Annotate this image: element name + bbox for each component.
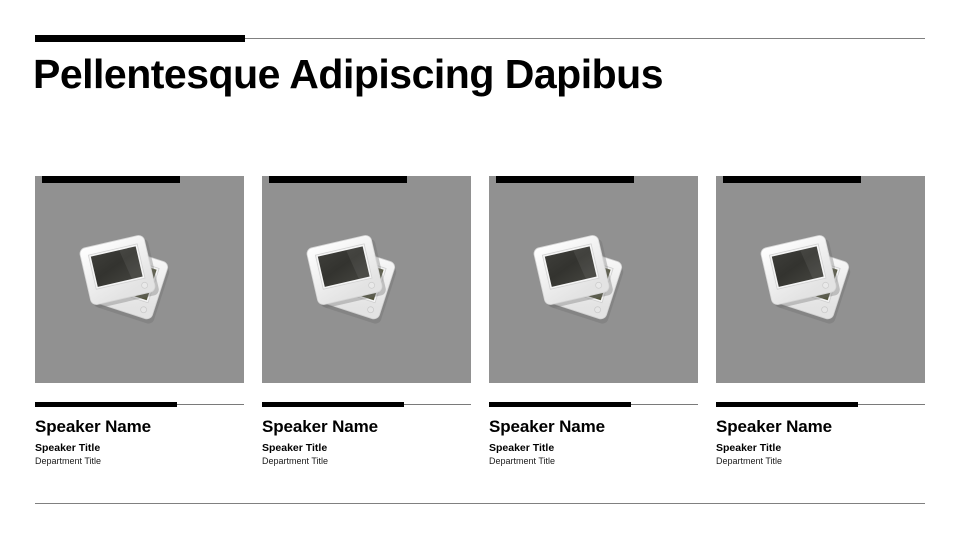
footer-rule xyxy=(35,503,925,504)
image-accent-bar xyxy=(269,176,407,183)
image-placeholder[interactable] xyxy=(489,176,698,383)
speaker-card[interactable]: Speaker Name Speaker Title Department Ti… xyxy=(716,176,925,467)
department-title: Department Title xyxy=(716,455,925,467)
image-placeholder[interactable] xyxy=(262,176,471,383)
speaker-title: Speaker Title xyxy=(35,442,244,455)
speaker-card[interactable]: Speaker Name Speaker Title Department Ti… xyxy=(489,176,698,467)
department-title: Department Title xyxy=(262,455,471,467)
image-accent-bar xyxy=(496,176,634,183)
image-accent-bar xyxy=(723,176,861,183)
card-divider-accent xyxy=(262,402,404,407)
speaker-name: Speaker Name xyxy=(262,417,471,437)
header-accent-bar xyxy=(35,35,245,42)
speaker-card[interactable]: Speaker Name Speaker Title Department Ti… xyxy=(35,176,244,467)
department-title: Department Title xyxy=(35,455,244,467)
card-divider xyxy=(716,402,925,408)
presentation-slide: Pellentesque Adipiscing Dapibus xyxy=(0,0,960,540)
photo-slides-placeholder-icon xyxy=(758,230,883,330)
department-title: Department Title xyxy=(489,455,698,467)
speaker-name: Speaker Name xyxy=(489,417,698,437)
image-placeholder[interactable] xyxy=(35,176,244,383)
photo-slides-placeholder-icon xyxy=(77,230,202,330)
card-divider xyxy=(262,402,471,408)
card-divider xyxy=(489,402,698,408)
speaker-name: Speaker Name xyxy=(35,417,244,437)
page-title: Pellentesque Adipiscing Dapibus xyxy=(33,49,913,99)
card-divider-accent xyxy=(35,402,177,407)
card-divider-accent xyxy=(489,402,631,407)
image-accent-bar xyxy=(42,176,180,183)
card-divider-accent xyxy=(716,402,858,407)
speaker-name: Speaker Name xyxy=(716,417,925,437)
speaker-title: Speaker Title xyxy=(489,442,698,455)
photo-slides-placeholder-icon xyxy=(531,230,656,330)
speaker-title: Speaker Title xyxy=(716,442,925,455)
photo-slides-placeholder-icon xyxy=(304,230,429,330)
card-divider xyxy=(35,402,244,408)
image-placeholder[interactable] xyxy=(716,176,925,383)
speaker-card[interactable]: Speaker Name Speaker Title Department Ti… xyxy=(262,176,471,467)
speaker-title: Speaker Title xyxy=(262,442,471,455)
speaker-card-grid: Speaker Name Speaker Title Department Ti… xyxy=(35,176,925,467)
